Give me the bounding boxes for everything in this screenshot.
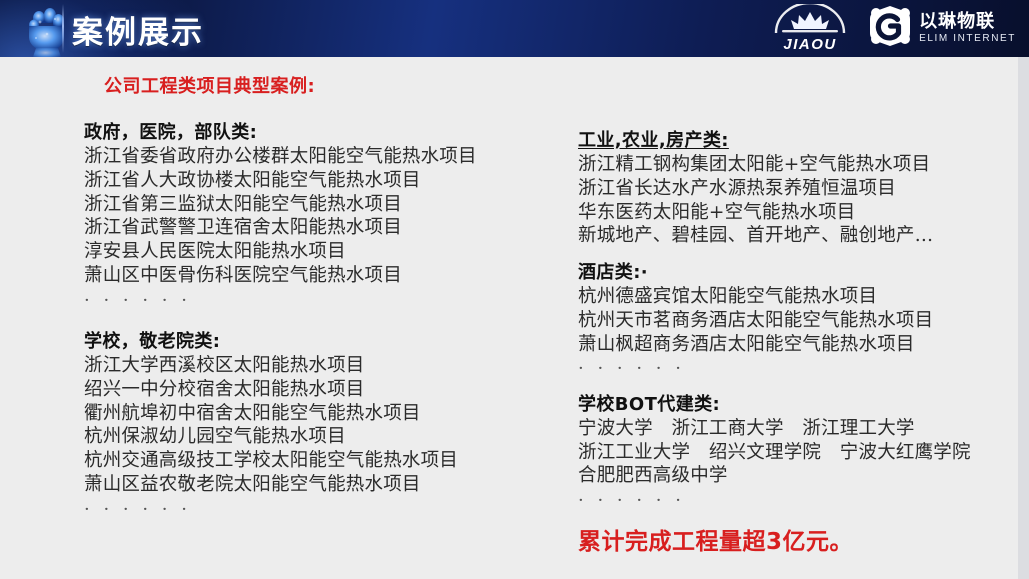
jiaou-logo: JIAOU [768, 4, 852, 53]
project-group-heading: 学校，敬老院类: [84, 327, 554, 353]
project-item: 浙江省长达水产水源热泵养殖恒温项目 [578, 177, 1018, 201]
slide-root: 案例展示 JIAOU [0, 0, 1029, 579]
project-item: 衢州航埠初中宿舍太阳能空气能热水项目 [84, 402, 554, 426]
ellipsis-marker: · · · · · · [578, 356, 1018, 380]
project-group-heading: 政府，医院，部队类: [84, 118, 554, 144]
project-item: 萧山区益农敬老院太阳能空气能热水项目 [84, 473, 554, 497]
footer-highlight: 累计完成工程量超3亿元。 [578, 522, 853, 556]
project-item: 浙江省委省政府办公楼群太阳能空气能热水项目 [84, 145, 554, 169]
page-title: 案例展示 [72, 7, 204, 52]
project-group: 学校BOT代建类:宁波大学 浙江工商大学 浙江理工大学浙江工业大学 绍兴文理学院… [578, 390, 1018, 512]
g-molecule-icon [868, 4, 912, 53]
project-group: 学校，敬老院类:浙江大学西溪校区太阳能热水项目绍兴一中分校宿舍太阳能热水项目衢州… [84, 327, 554, 520]
project-item: 浙江工业大学 绍兴文理学院 宁波大红鹰学院 [578, 441, 1018, 465]
project-item: 浙江省人大政协楼太阳能空气能热水项目 [84, 169, 554, 193]
project-item: 杭州交通高级技工学校太阳能空气能热水项目 [84, 449, 554, 473]
project-item: 浙江省武警警卫连宿舍太阳能热水项目 [84, 216, 554, 240]
elim-name-cn: 以琳物联 [919, 13, 1016, 31]
project-item: 绍兴一中分校宿舍太阳能热水项目 [84, 378, 554, 402]
project-group: 酒店类:·杭州德盛宾馆太阳能空气能热水项目杭州天市茗商务酒店太阳能空气能热水项目… [578, 258, 1018, 380]
ellipsis-marker: · · · · · · [84, 288, 554, 312]
group-spacer [84, 311, 554, 327]
project-item: 杭州天市茗商务酒店太阳能空气能热水项目 [578, 309, 1018, 333]
elim-logo: 以琳物联 ELIM INTERNET [868, 4, 1016, 53]
raised-fist-icon [14, 0, 76, 57]
sunrise-arch-icon [768, 4, 852, 35]
header-divider [62, 4, 64, 53]
right-column: 工业,农业,房产类:浙江精工钢构集团太阳能+空气能热水项目浙江省长达水产水源热泵… [578, 126, 1018, 512]
group-spacer [578, 248, 1018, 258]
right-edge-strip [1018, 57, 1029, 579]
project-group-heading: 学校BOT代建类: [578, 390, 1018, 416]
project-group-heading: 酒店类:· [578, 258, 1018, 284]
project-item: 萧山枫超商务酒店太阳能空气能热水项目 [578, 333, 1018, 357]
project-item: 浙江大学西溪校区太阳能热水项目 [84, 354, 554, 378]
project-item: 浙江省第三监狱太阳能空气能热水项目 [84, 193, 554, 217]
elim-name-en: ELIM INTERNET [919, 34, 1016, 44]
ellipsis-marker: · · · · · · [578, 488, 1018, 512]
slide-header: 案例展示 JIAOU [0, 0, 1029, 57]
project-item: 萧山区中医骨伤科医院空气能热水项目 [84, 264, 554, 288]
section-red-title: 公司工程类项目典型案例: [104, 72, 315, 98]
group-spacer [578, 380, 1018, 390]
project-group: 工业,农业,房产类:浙江精工钢构集团太阳能+空气能热水项目浙江省长达水产水源热泵… [578, 126, 1018, 248]
project-item: 杭州保淑幼儿园空气能热水项目 [84, 425, 554, 449]
ellipsis-marker: · · · · · · [84, 497, 554, 521]
project-item: 合肥肥西高级中学 [578, 464, 1018, 488]
project-item: 华东医药太阳能+空气能热水项目 [578, 201, 1018, 225]
project-item: 宁波大学 浙江工商大学 浙江理工大学 [578, 417, 1018, 441]
project-item: 淳安县人民医院太阳能热水项目 [84, 240, 554, 264]
project-group-heading: 工业,农业,房产类: [578, 126, 1018, 152]
project-group: 政府，医院，部队类:浙江省委省政府办公楼群太阳能空气能热水项目浙江省人大政协楼太… [84, 118, 554, 311]
project-item: 浙江精工钢构集团太阳能+空气能热水项目 [578, 153, 1018, 177]
project-item: 新城地产、碧桂园、首开地产、融创地产… [578, 224, 1018, 248]
project-item: 杭州德盛宾馆太阳能空气能热水项目 [578, 285, 1018, 309]
left-column: 政府，医院，部队类:浙江省委省政府办公楼群太阳能空气能热水项目浙江省人大政协楼太… [84, 118, 554, 520]
jiaou-wordmark: JIAOU [783, 36, 836, 53]
logo-group: JIAOU 以琳物联 ELIM INTERNET [768, 3, 1016, 53]
